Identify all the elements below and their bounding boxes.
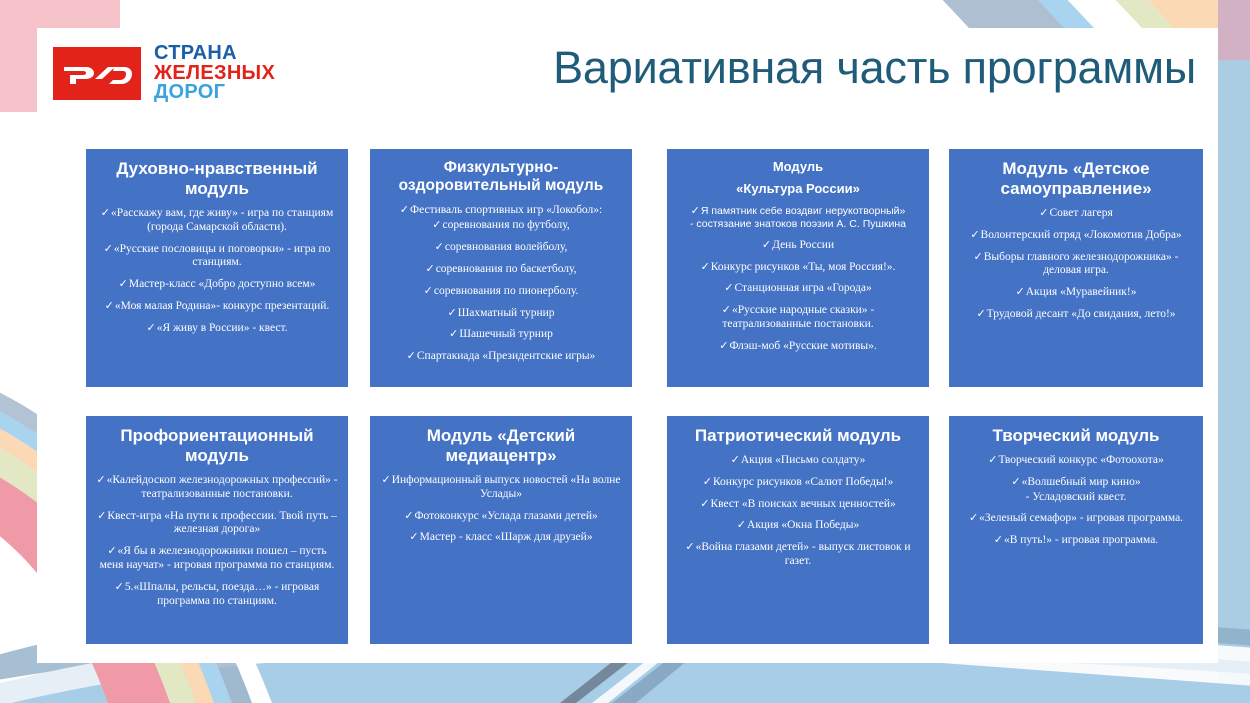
list-item: ✓Мастер-класс «Добро доступно всем» (94, 277, 340, 292)
list-item: ✓Акция «Окна Победы» (675, 518, 921, 533)
module-card-sport: Физкультурно-оздоровительный модуль ✓Фес… (370, 149, 632, 387)
check-icon: ✓ (146, 321, 156, 334)
page-title: Вариативная часть программы (553, 42, 1196, 94)
list-item-label: Станционная игра «Города» (735, 282, 872, 294)
check-icon: ✓ (969, 511, 979, 524)
check-icon: ✓ (988, 453, 998, 466)
check-icon: ✓ (105, 299, 115, 312)
check-icon: ✓ (737, 518, 747, 531)
list-item-label: «Русские пословицы и поговорки» - игра п… (114, 243, 331, 269)
list-item: ✓соревнования по пионерболу. (378, 284, 624, 299)
list-item: ✓«Моя малая Родина»- конкурс презентаций… (94, 299, 340, 314)
check-icon: ✓ (1011, 475, 1021, 488)
check-icon: ✓ (119, 277, 129, 290)
list-item: ✓Станционная игра «Города» (675, 281, 921, 296)
module-card-spiritual: Духовно-нравственный модуль ✓«Расскажу в… (86, 149, 348, 387)
list-item-label: Трудовой десант «До свидания, лето!» (987, 308, 1176, 320)
list-item: ✓«Я живу в России» - квест. (94, 321, 340, 336)
list-item-label: Акция «Муравейник!» (1026, 286, 1137, 298)
check-icon: ✓ (701, 260, 711, 273)
rzd-logo: СТРАНА ЖЕЛЕЗНЫХ ДОРОГ (53, 44, 275, 103)
list-item: ✓«Зеленый семафор» - игровая программа. (957, 511, 1195, 526)
list-item-label: «Моя малая Родина»- конкурс презентаций. (115, 300, 329, 312)
list-item-label: 5.«Шпалы, рельсы, поезда…» - игровая про… (125, 581, 319, 607)
module-card-media: Модуль «Детский медиацентр» ✓Информацион… (370, 416, 632, 644)
check-icon: ✓ (104, 242, 114, 255)
check-icon: ✓ (107, 544, 117, 557)
card-item-list: ✓Я памятник себе воздвиг нерукотворный» … (675, 204, 921, 354)
card-title-line2: «Культура России» (675, 181, 921, 196)
list-item: ✓Творческий конкурс «Фотоохота» (957, 453, 1195, 468)
card-item-list: ✓Творческий конкурс «Фотоохота» ✓«Волшеб… (957, 453, 1195, 548)
list-item: ✓Трудовой десант «До свидания, лето!» (957, 307, 1195, 322)
module-card-patriotic: Патриотический модуль ✓Акция «Письмо сол… (667, 416, 929, 644)
card-title: Творческий модуль (957, 426, 1195, 446)
check-icon: ✓ (409, 530, 419, 543)
check-icon: ✓ (424, 284, 434, 297)
check-icon: ✓ (400, 203, 410, 216)
list-item-label: «Я бы в железнодорожники пошел – пусть м… (100, 545, 335, 571)
list-item: ✓Мастер - класс «Шарж для друзей» (378, 530, 624, 545)
check-icon: ✓ (432, 218, 442, 231)
card-title: Модуль «Детский медиацентр» (378, 426, 624, 466)
list-item-label: «Русские народные сказки» - театрализова… (722, 304, 874, 330)
card-title: Профориентационный модуль (94, 426, 340, 466)
check-icon: ✓ (435, 240, 445, 253)
list-item-label: Мастер-класс «Добро доступно всем» (129, 278, 316, 290)
list-item-label: «Война глазами детей» - выпуск листовок … (696, 541, 911, 567)
card-title-line1: Модуль (675, 159, 921, 174)
check-icon: ✓ (101, 206, 111, 219)
logo-line-dorog: ДОРОГ (154, 83, 275, 103)
module-card-creative: Творческий модуль ✓Творческий конкурс «Ф… (949, 416, 1203, 644)
list-item: ✓Флэш-моб «Русские мотивы». (675, 339, 921, 354)
list-item: ✓Шашечный турнир (378, 327, 624, 342)
list-item: ✓Конкурс рисунков «Ты, моя Россия!». (675, 260, 921, 275)
list-item-label: Акция «Письмо солдату» (741, 454, 866, 466)
check-icon: ✓ (731, 453, 741, 466)
list-item: ✓«Русские пословицы и поговорки» - игра … (94, 242, 340, 271)
list-item: ✓«Русские народные сказки» - театрализов… (675, 303, 921, 332)
list-item-label: Флэш-моб «Русские мотивы». (729, 340, 876, 352)
card-item-list: ✓Совет лагеря ✓Волонтерский отряд «Локом… (957, 206, 1195, 322)
list-item-label: соревнования по баскетболу, (436, 263, 577, 275)
check-icon: ✓ (407, 349, 417, 362)
list-item: ✓Шахматный турнир (378, 306, 624, 321)
list-item-label: - Усладовский квест. (1026, 491, 1127, 503)
check-icon: ✓ (691, 204, 701, 217)
card-title: Патриотический модуль (675, 426, 921, 446)
check-icon: ✓ (719, 339, 729, 352)
check-icon: ✓ (700, 497, 710, 510)
list-item-label: Конкурс рисунков «Ты, моя Россия!». (711, 261, 896, 273)
list-item: ✓5.«Шпалы, рельсы, поезда…» - игровая пр… (94, 580, 340, 609)
list-item: ✓«В путь!» - игровая программа. (957, 533, 1195, 548)
list-item-label: «Волшебный мир кино» (1022, 476, 1141, 488)
list-item-label: Акция «Окна Победы» (747, 519, 859, 531)
list-item-label: «Расскажу вам, где живу» - игра по станц… (111, 207, 333, 233)
check-icon: ✓ (425, 262, 435, 275)
check-icon: ✓ (381, 473, 391, 486)
list-item: ✓Квест «В поисках вечных ценностей» (675, 497, 921, 512)
list-item-label: Я памятник себе воздвиг нерукотворный» (701, 205, 906, 217)
list-item-label: соревнования по пионерболу. (434, 285, 578, 297)
list-item: ✓Фотоконкурс «Услада глазами детей» (378, 509, 624, 524)
list-item-label: «Калейдоскоп железнодорожных профессий» … (107, 474, 338, 500)
list-item-label: День России (772, 239, 834, 251)
card-item-list: ✓Информационный выпуск новостей «На волн… (378, 473, 624, 545)
list-item-label: Фотоконкурс «Услада глазами детей» (414, 510, 597, 522)
check-icon: ✓ (724, 281, 734, 294)
card-title: Духовно-нравственный модуль (94, 159, 340, 199)
list-item: ✓соревнования волейболу, (378, 240, 624, 255)
card-title: Физкультурно-оздоровительный модуль (378, 159, 624, 196)
card-title: Модуль «Детское самоуправление» (957, 159, 1195, 199)
list-item-label: соревнования волейболу, (445, 241, 568, 253)
check-icon: ✓ (1016, 285, 1026, 298)
list-item: ✓Спартакиада «Президентские игры» (378, 349, 624, 364)
list-item: ✓Информационный выпуск новостей «На волн… (378, 473, 624, 502)
slide: СТРАНА ЖЕЛЕЗНЫХ ДОРОГ Вариативная часть … (0, 0, 1250, 703)
list-item-label: Шахматный турнир (458, 307, 555, 319)
list-item: ✓Выборы главного железнодорожника» - дел… (957, 250, 1195, 279)
list-item-label: - состязание знатоков поэзии А. С. Пушки… (690, 218, 906, 230)
check-icon: ✓ (974, 250, 984, 263)
list-item: ✓«Расскажу вам, где живу» - игра по стан… (94, 206, 340, 235)
card-item-list: ✓Фестиваль спортивных игр «Локобол»: ✓со… (378, 203, 624, 364)
check-icon: ✓ (115, 580, 125, 593)
list-item: ✓Акция «Письмо солдату» (675, 453, 921, 468)
list-item-label: Квест «В поисках вечных ценностей» (710, 498, 895, 510)
list-item: ✓соревнования по футболу, (378, 218, 624, 233)
slide-canvas: СТРАНА ЖЕЛЕЗНЫХ ДОРОГ Вариативная часть … (37, 28, 1218, 663)
check-icon: ✓ (447, 306, 457, 319)
list-item-label: Информационный выпуск новостей «На волне… (392, 474, 621, 500)
list-item-label: «В путь!» - игровая программа. (1004, 534, 1158, 546)
list-item: - состязание знатоков поэзии А. С. Пушки… (675, 218, 921, 231)
list-item: ✓«Волшебный мир кино» (957, 475, 1195, 490)
logo-line-strana: СТРАНА (154, 44, 275, 64)
list-item-label: Шашечный турнир (459, 328, 553, 340)
card-item-list: ✓Акция «Письмо солдату» ✓Конкурс рисунко… (675, 453, 921, 569)
list-item-label: Волонтерский отряд «Локомотив Добра» (981, 229, 1182, 241)
list-item-label: Творческий конкурс «Фотоохота» (998, 454, 1163, 466)
list-item: ✓День России (675, 238, 921, 253)
list-item-label: Выборы главного железнодорожника» - дело… (984, 251, 1179, 277)
rzd-logo-mark-icon (53, 47, 141, 100)
module-card-selfgovernance: Модуль «Детское самоуправление» ✓Совет л… (949, 149, 1203, 387)
list-item-label: соревнования по футболу, (442, 219, 569, 231)
list-item: ✓Я памятник себе воздвиг нерукотворный» (675, 204, 921, 218)
list-item-label: Конкурс рисунков «Салют Победы!» (713, 476, 893, 488)
card-item-list: ✓«Расскажу вам, где живу» - игра по стан… (94, 206, 340, 336)
list-item-label: «Я живу в России» - квест. (157, 322, 288, 334)
list-item: ✓Совет лагеря (957, 206, 1195, 221)
list-item-label: Совет лагеря (1049, 207, 1112, 219)
list-item: - Усладовский квест. (957, 491, 1195, 505)
list-item: ✓Квест-игра «На пути к профессии. Твой п… (94, 509, 340, 538)
list-item-label: «Зеленый семафор» - игровая программа. (979, 512, 1183, 524)
rzd-logo-wordmark: СТРАНА ЖЕЛЕЗНЫХ ДОРОГ (154, 44, 275, 103)
check-icon: ✓ (685, 540, 695, 553)
list-item: ✓Волонтерский отряд «Локомотив Добра» (957, 228, 1195, 243)
list-item: ✓«Калейдоскоп железнодорожных профессий»… (94, 473, 340, 502)
list-item-label: Спартакиада «Президентские игры» (417, 350, 595, 362)
check-icon: ✓ (994, 533, 1004, 546)
check-icon: ✓ (97, 509, 107, 522)
list-item: ✓Акция «Муравейник!» (957, 285, 1195, 300)
list-item-label: Квест-игра «На пути к профессии. Твой пу… (107, 510, 337, 536)
card-item-list: ✓«Калейдоскоп железнодорожных профессий»… (94, 473, 340, 608)
check-icon: ✓ (762, 238, 772, 251)
list-item: ✓Фестиваль спортивных игр «Локобол»: (378, 203, 624, 218)
check-icon: ✓ (96, 473, 106, 486)
list-item-label: Мастер - класс «Шарж для друзей» (420, 531, 593, 543)
list-item-label: Фестиваль спортивных игр «Локобол»: (410, 204, 602, 216)
module-card-culture: Модуль «Культура России» ✓Я памятник себ… (667, 149, 929, 387)
module-card-career: Профориентационный модуль ✓«Калейдоскоп … (86, 416, 348, 644)
list-item: ✓«Я бы в железнодорожники пошел – пусть … (94, 544, 340, 573)
list-item: ✓«Война глазами детей» - выпуск листовок… (675, 540, 921, 569)
check-icon: ✓ (976, 307, 986, 320)
check-icon: ✓ (722, 303, 732, 316)
check-icon: ✓ (970, 228, 980, 241)
list-item: ✓Конкурс рисунков «Салют Победы!» (675, 475, 921, 490)
check-icon: ✓ (404, 509, 414, 522)
check-icon: ✓ (449, 327, 459, 340)
check-icon: ✓ (703, 475, 713, 488)
slide-header: СТРАНА ЖЕЛЕЗНЫХ ДОРОГ Вариативная часть … (37, 28, 1218, 113)
list-item: ✓соревнования по баскетболу, (378, 262, 624, 277)
check-icon: ✓ (1039, 206, 1049, 219)
